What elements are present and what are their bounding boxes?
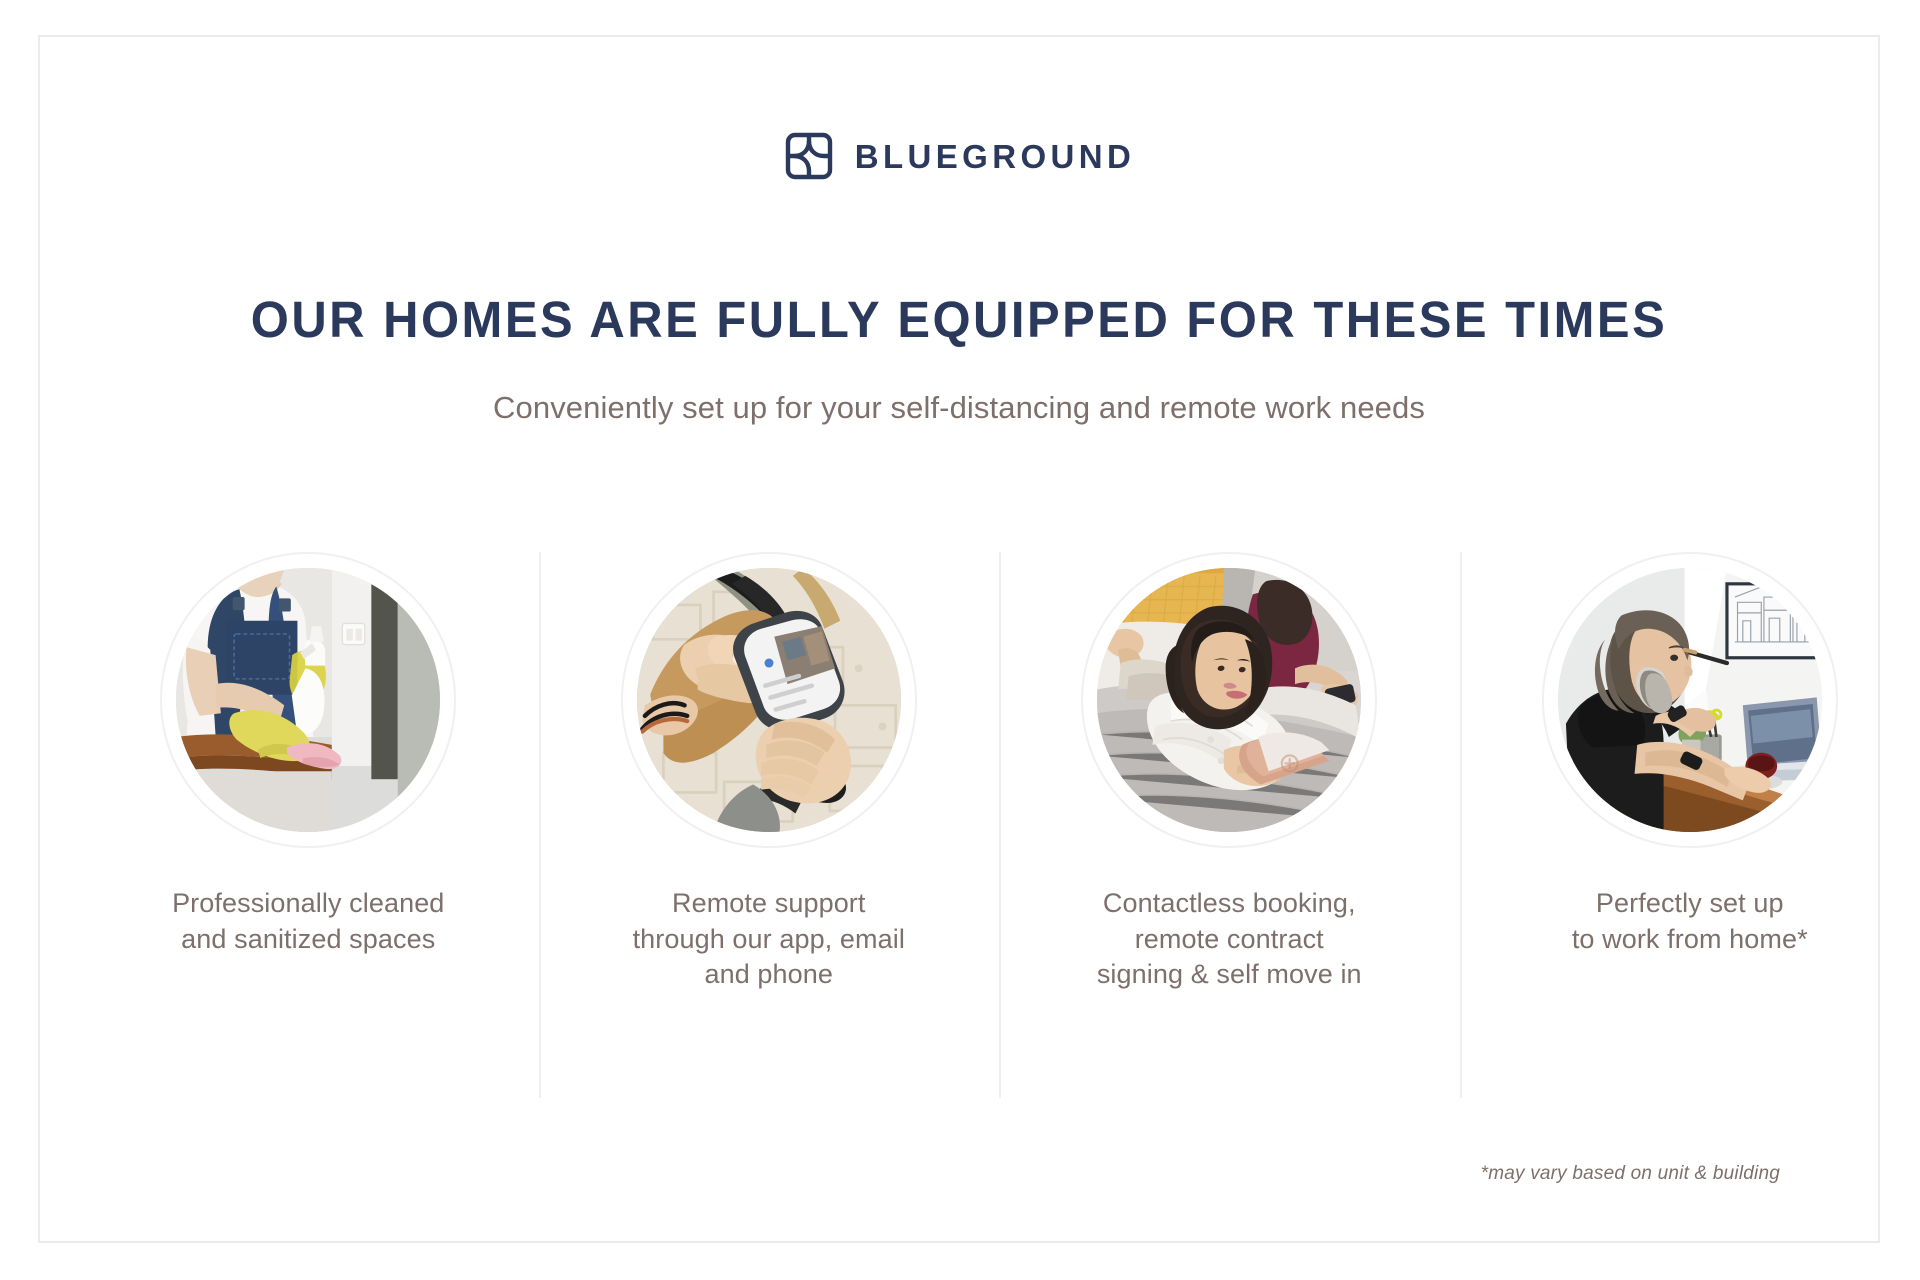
feature-caption: Contactless booking, remote contract sig… (1097, 886, 1362, 993)
photo-man-working-at-desk (1558, 568, 1822, 832)
poster-frame: BLUEGROUND OUR HOMES ARE FULLY EQUIPPED … (38, 35, 1880, 1243)
brand-wordmark: BLUEGROUND (855, 140, 1136, 173)
blueground-square-mark-icon (783, 130, 835, 182)
photo-hands-using-phone-app (637, 568, 901, 832)
page-subtitle: Conveniently set up for your self-distan… (40, 389, 1878, 428)
feature-item-remote-support: Remote support through our app, email an… (539, 552, 1000, 1098)
feature-caption: Remote support through our app, email an… (633, 886, 905, 993)
feature-caption: Professionally cleaned and sanitized spa… (172, 886, 444, 957)
photo-housekeeper-cleaning-counter (176, 568, 440, 832)
photo-ring-contactless-booking (1081, 552, 1377, 848)
photo-ring-remote-support (621, 552, 917, 848)
feature-list: Professionally cleaned and sanitized spa… (78, 552, 1920, 1098)
photo-ring-work-from-home (1542, 552, 1838, 848)
feature-item-contactless-booking: Contactless booking, remote contract sig… (999, 552, 1460, 1098)
feature-item-work-from-home: Perfectly set up to work from home* (1460, 552, 1920, 1098)
page-title: OUR HOMES ARE FULLY EQUIPPED FOR THESE T… (77, 292, 1841, 348)
feature-caption: Perfectly set up to work from home* (1572, 886, 1808, 957)
poster-canvas: BLUEGROUND OUR HOMES ARE FULLY EQUIPPED … (0, 0, 1920, 1280)
brand-lockup: BLUEGROUND (40, 130, 1878, 182)
photo-ring-cleaning (160, 552, 456, 848)
footnote-disclaimer: *may vary based on unit & building (1481, 1163, 1780, 1185)
photo-woman-on-bed-with-tablet (1097, 568, 1361, 832)
feature-item-cleaning: Professionally cleaned and sanitized spa… (78, 552, 539, 1098)
